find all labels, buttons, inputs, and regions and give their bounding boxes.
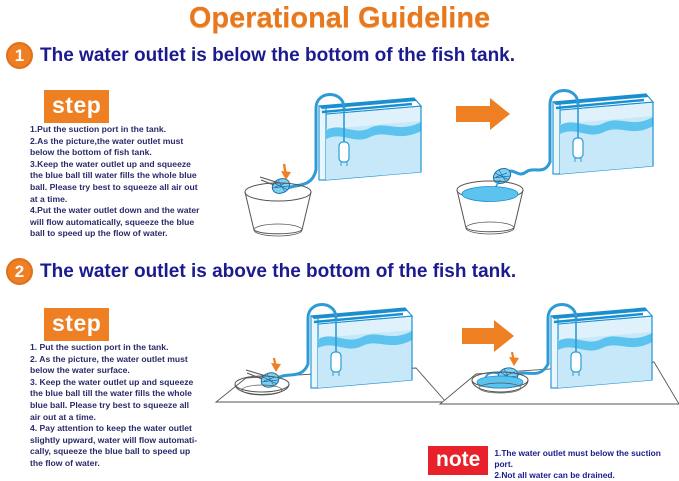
page-title: Operational Guideline (0, 2, 679, 35)
step-badge-1: step (44, 90, 109, 123)
guideline-page: Operational Guideline 1 The water outlet… (0, 0, 679, 477)
note-text: 1.The water outlet must below the suctio… (494, 446, 679, 481)
note-badge: note (428, 446, 488, 475)
bowl-water-2b (477, 376, 523, 388)
fish-tank-1b (553, 94, 653, 174)
note-block: note 1.The water outlet must below the s… (428, 446, 679, 481)
fish-tank-2a (311, 308, 412, 388)
orange-arrow-icon-1b (456, 98, 510, 130)
section-1-heading: 1 The water outlet is below the bottom o… (6, 42, 515, 69)
diagram-step1-before (236, 84, 436, 234)
outlet-nozzle-2a (246, 370, 266, 376)
section-1-title: The water outlet is below the bottom of … (40, 45, 515, 67)
bucket-1b (457, 181, 523, 234)
step-badge-2: step (44, 308, 109, 341)
diagram-step2-after (440, 300, 679, 440)
diagram-step2-before (216, 306, 446, 426)
arrow-down-icon-1a (281, 164, 291, 180)
step-instructions-2: 1. Put the suction port in the tank. 2. … (30, 342, 235, 470)
arrow-down-icon-2b (509, 352, 519, 366)
squeeze-ball-1a (270, 176, 292, 196)
section-2-heading: 2 The water outlet is above the bottom o… (6, 258, 516, 285)
section-number-badge-1: 1 (6, 42, 33, 69)
fish-tank-2b (551, 308, 652, 388)
outlet-nozzle-1a (260, 177, 279, 183)
fish-tank-1a (319, 98, 421, 180)
bucket-water-1b (462, 187, 518, 202)
step-instructions-1: 1.Put the suction port in the tank. 2.As… (30, 124, 235, 240)
orange-arrow-icon-2b (462, 320, 514, 352)
diagram-step1-after (448, 84, 673, 234)
section-2-title: The water outlet is above the bottom of … (40, 261, 516, 283)
section-number-badge-2: 2 (6, 258, 33, 285)
squeeze-ball-1b (491, 165, 514, 186)
arrow-down-icon-2a (271, 358, 281, 372)
